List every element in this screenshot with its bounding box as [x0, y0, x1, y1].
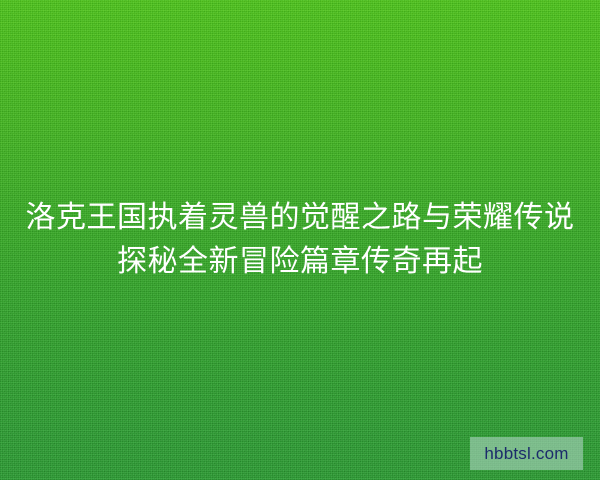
headline-text-block: 洛克王国执着灵兽的觉醒之路与荣耀传说 探秘全新冒险篇章传奇再起: [0, 196, 600, 284]
banner-image: 洛克王国执着灵兽的觉醒之路与荣耀传说 探秘全新冒险篇章传奇再起 hbbtsl.c…: [0, 0, 600, 480]
watermark-url-text: hbbtsl.com: [484, 445, 568, 462]
watermark-badge: hbbtsl.com: [470, 437, 583, 470]
headline-line-2: 探秘全新冒险篇章传奇再起: [0, 240, 600, 284]
headline-line-1: 洛克王国执着灵兽的觉醒之路与荣耀传说: [0, 196, 600, 240]
